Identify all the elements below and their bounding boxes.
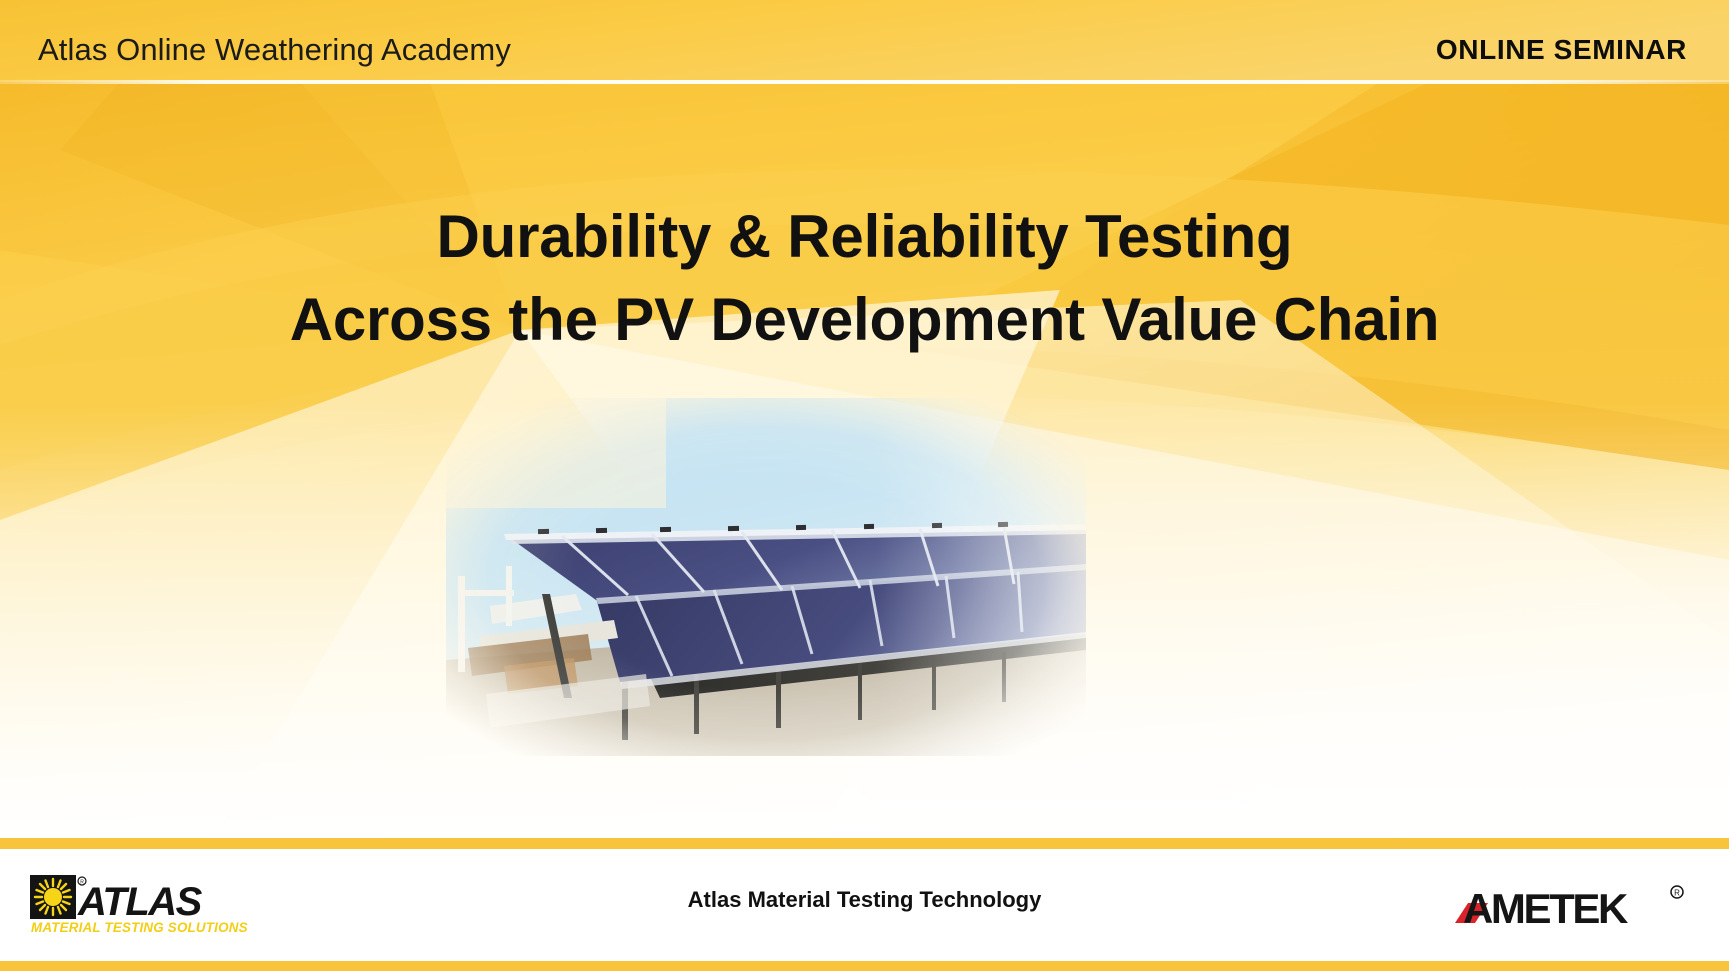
- header-program-title: Atlas Online Weathering Academy: [38, 32, 511, 68]
- slide-header: Atlas Online Weathering Academy ONLINE S…: [0, 0, 1729, 86]
- svg-text:R: R: [1674, 889, 1680, 898]
- solar-array-illustration: [446, 398, 1086, 756]
- slide-title-block: Durability & Reliability Testing Across …: [0, 196, 1729, 362]
- footer-top-rule: [0, 838, 1729, 849]
- slide-footer: R ATLAS MATERIAL TESTING SOLUTIONS Atlas…: [0, 849, 1729, 961]
- header-seminar-badge: ONLINE SEMINAR: [1436, 34, 1687, 66]
- ametek-logo: AMETEK R: [1455, 881, 1695, 933]
- slide-title-line-1: Durability & Reliability Testing: [0, 196, 1729, 279]
- svg-text:AMETEK: AMETEK: [1463, 885, 1628, 932]
- slide-title-line-2: Across the PV Development Value Chain: [0, 279, 1729, 362]
- header-divider-rule: [0, 80, 1729, 84]
- ametek-logo-graphic: AMETEK R: [1455, 881, 1695, 933]
- footer-bottom-rule: [0, 961, 1729, 971]
- svg-text:MATERIAL TESTING SOLUTIONS: MATERIAL TESTING SOLUTIONS: [31, 920, 248, 935]
- solar-panel-array-photo: [446, 398, 1086, 756]
- presentation-slide: Atlas Online Weathering Academy ONLINE S…: [0, 0, 1729, 971]
